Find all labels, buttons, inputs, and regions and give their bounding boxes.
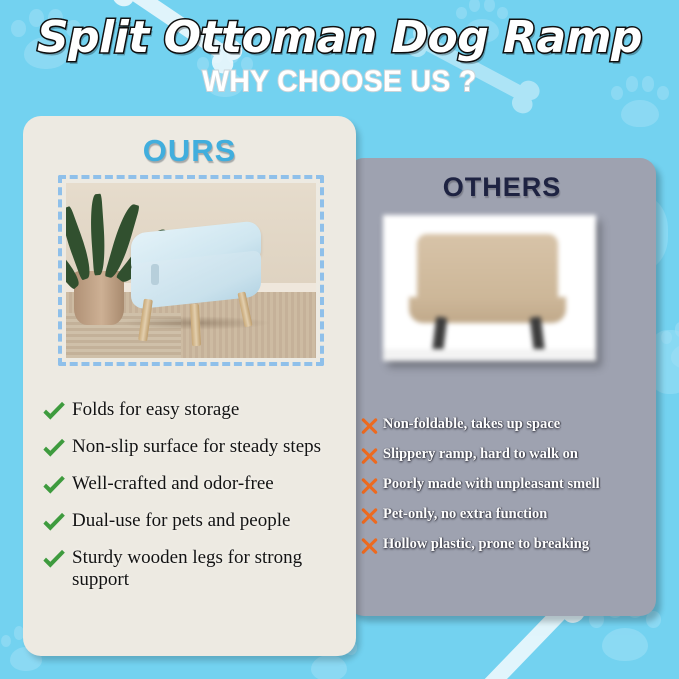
check-icon	[41, 473, 67, 499]
list-item-label: Non-slip surface for steady steps	[72, 436, 321, 458]
list-item-label: Slippery ramp, hard to walk on	[383, 446, 578, 463]
check-icon	[41, 547, 67, 573]
list-item-label: Folds for easy storage	[72, 399, 239, 421]
list-item: Non-slip surface for steady steps	[41, 436, 340, 462]
list-item: Slippery ramp, hard to walk on	[360, 446, 646, 465]
ours-product-image	[66, 183, 316, 358]
cross-icon	[360, 476, 379, 495]
cross-icon	[360, 446, 379, 465]
list-item: Non-foldable, takes up space	[360, 416, 646, 435]
check-icon	[41, 510, 67, 536]
ours-heading: OURS	[23, 133, 356, 169]
cross-icon	[360, 536, 379, 555]
ours-list: Folds for easy storage Non-slip surface …	[23, 399, 356, 602]
list-item: Poorly made with unpleasant smell	[360, 476, 646, 495]
others-list: Non-foldable, takes up space Slippery ra…	[348, 416, 656, 566]
check-icon	[41, 436, 67, 462]
list-item-label: Poorly made with unpleasant smell	[383, 476, 600, 493]
cross-icon	[360, 416, 379, 435]
check-icon	[41, 399, 67, 425]
list-item: Dual-use for pets and people	[41, 510, 340, 536]
others-panel: OTHERS Non-foldable, takes up space Slip…	[348, 158, 656, 616]
others-product-image	[383, 215, 596, 361]
list-item: Well-crafted and odor-free	[41, 473, 340, 499]
list-item-label: Hollow plastic, prone to breaking	[383, 536, 589, 553]
others-heading: OTHERS	[348, 172, 656, 203]
header: Split Ottoman Dog Ramp WHY CHOOSE US ?	[0, 0, 679, 99]
list-item-label: Dual-use for pets and people	[72, 510, 290, 532]
list-item-label: Sturdy wooden legs for strong support	[72, 547, 340, 591]
list-item-label: Pet-only, no extra function	[383, 506, 547, 523]
cross-icon	[360, 506, 379, 525]
ours-image-frame	[58, 175, 324, 366]
list-item-label: Non-foldable, takes up space	[383, 416, 560, 433]
list-item: Pet-only, no extra function	[360, 506, 646, 525]
list-item-label: Well-crafted and odor-free	[72, 473, 274, 495]
ours-panel: OURS	[23, 116, 356, 656]
list-item: Folds for easy storage	[41, 399, 340, 425]
list-item: Hollow plastic, prone to breaking	[360, 536, 646, 555]
page-subtitle: WHY CHOOSE US ?	[20, 65, 658, 99]
page-title: Split Ottoman Dog Ramp	[0, 12, 679, 63]
list-item: Sturdy wooden legs for strong support	[41, 547, 340, 591]
infographic-canvas: Split Ottoman Dog Ramp WHY CHOOSE US ? O…	[0, 0, 679, 679]
